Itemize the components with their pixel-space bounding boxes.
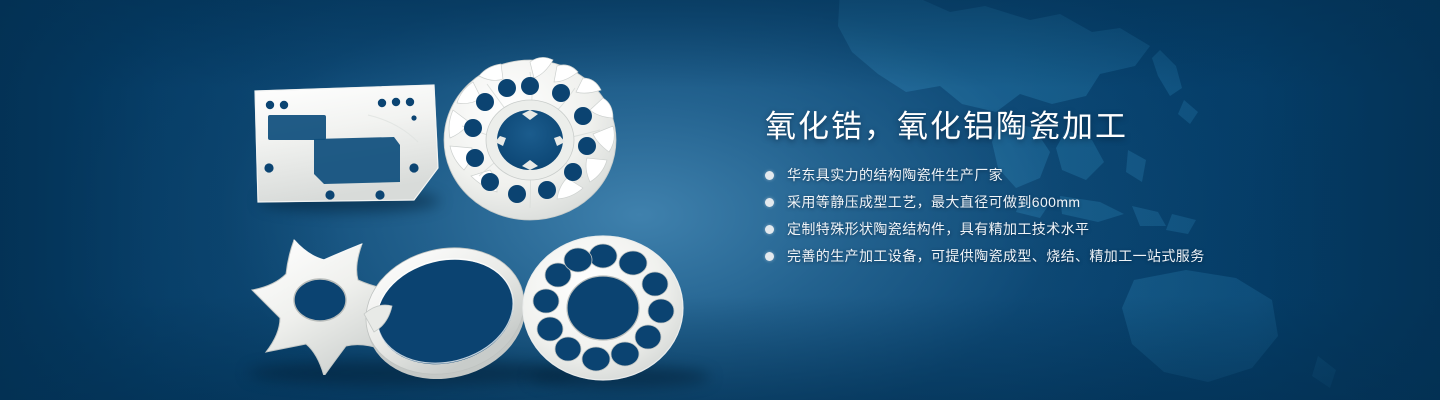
ceramic-ring [358,236,533,386]
banner-copy: 氧化锆，氧化铝陶瓷加工 华东具实力的结构陶瓷件生产厂家 采用等静压成型工艺，最大… [765,104,1385,272]
feature-text: 采用等静压成型工艺，最大直径可做到600mm [787,191,1080,213]
bullet-dot-icon [765,171,774,180]
list-item: 采用等静压成型工艺，最大直径可做到600mm [765,191,1385,213]
bullet-dot-icon [765,225,774,234]
ceramic-perforated-disc [518,230,688,385]
product-photo-group [230,40,720,380]
feature-text: 华东具实力的结构陶瓷件生产厂家 [787,164,1003,186]
ceramic-processing-banner: 氧化锆，氧化铝陶瓷加工 华东具实力的结构陶瓷件生产厂家 采用等静压成型工艺，最大… [0,0,1440,400]
bullet-dot-icon [765,252,774,261]
feature-list: 华东具实力的结构陶瓷件生产厂家 采用等静压成型工艺，最大直径可做到600mm 定… [765,164,1385,267]
feature-text: 完善的生产加工设备，可提供陶瓷成型、烧结、精加工一站式服务 [787,245,1205,267]
bullet-dot-icon [765,198,774,207]
list-item: 定制特殊形状陶瓷结构件，具有精加工技术水平 [765,218,1385,240]
feature-text: 定制特殊形状陶瓷结构件，具有精加工技术水平 [787,218,1089,240]
list-item: 完善的生产加工设备，可提供陶瓷成型、烧结、精加工一站式服务 [765,245,1385,267]
list-item: 华东具实力的结构陶瓷件生产厂家 [765,164,1385,186]
ceramic-vaned-impeller [435,48,625,228]
banner-title: 氧化锆，氧化铝陶瓷加工 [765,104,1385,150]
ceramic-mounting-plate [248,82,448,207]
